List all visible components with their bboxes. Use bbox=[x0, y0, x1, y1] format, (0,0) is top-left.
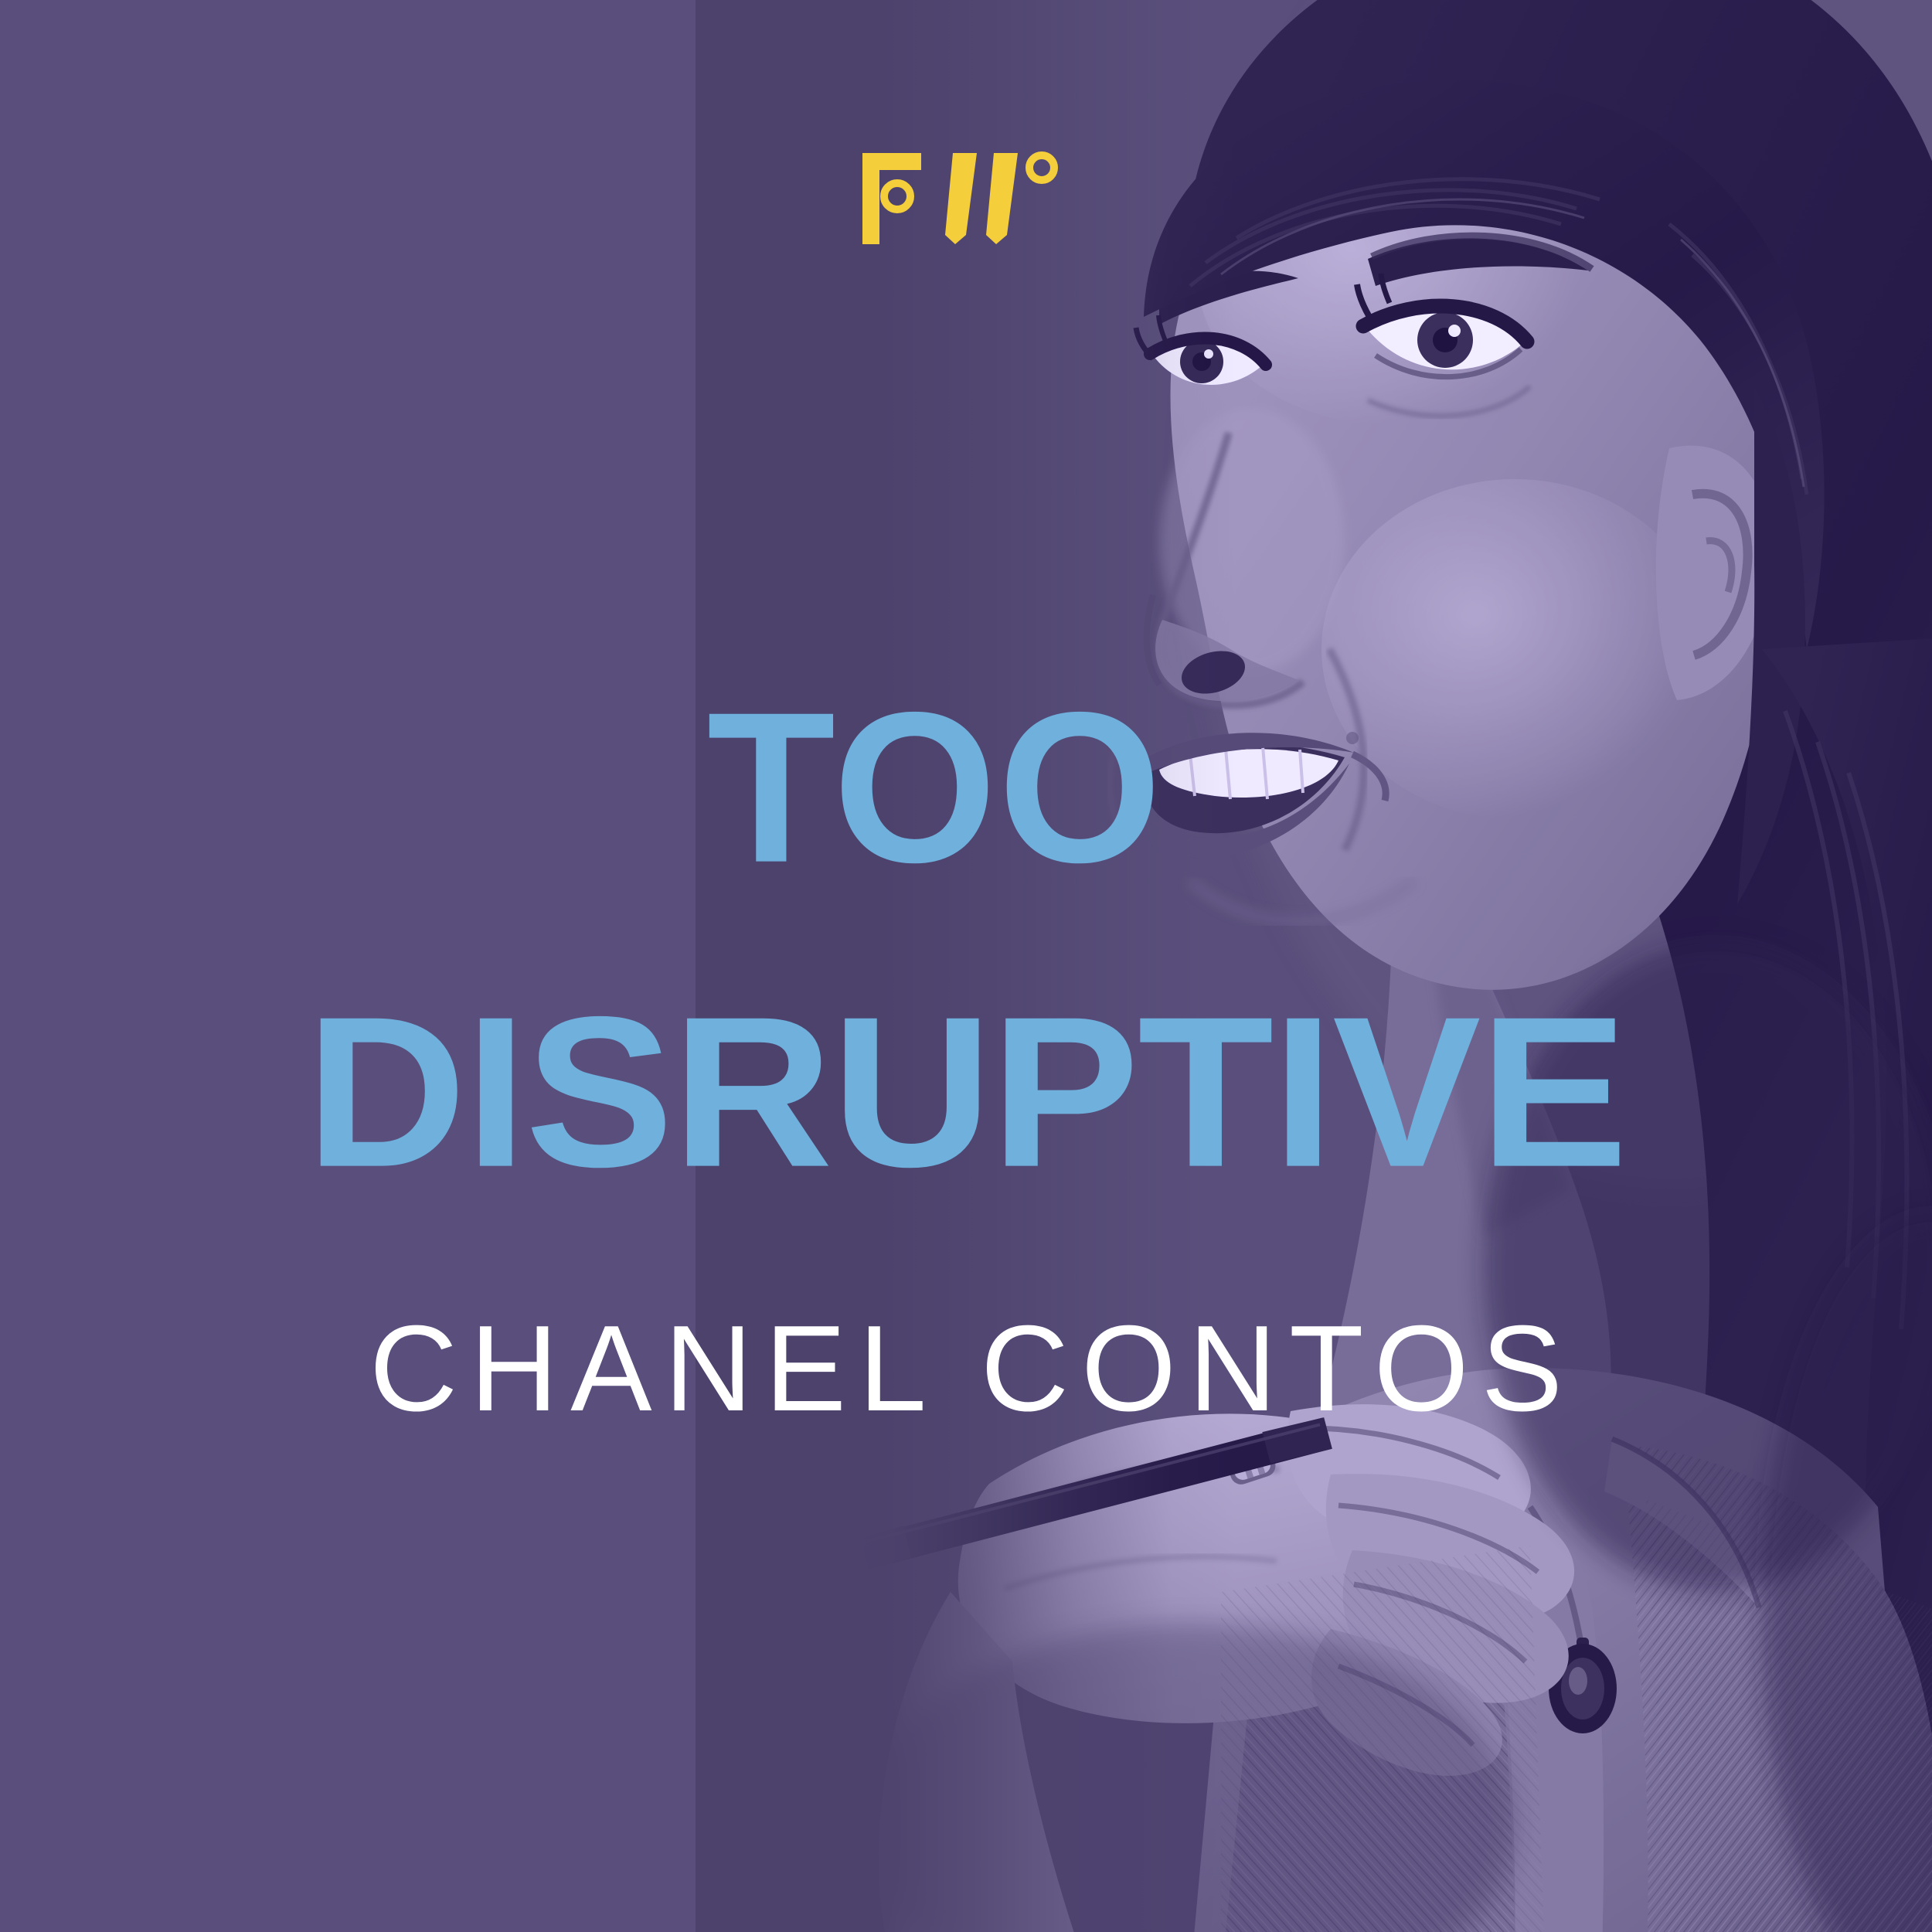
title-line-2: DISRUPTIVE bbox=[0, 985, 1932, 1199]
fw-degree-logo[interactable] bbox=[856, 148, 1088, 249]
guest-name: CHANEL CONTOS bbox=[0, 1308, 1932, 1430]
podcast-cover-art: TOO DISRUPTIVE CHANEL CONTOS bbox=[0, 0, 1932, 1932]
title-line-1: TOO bbox=[0, 680, 1932, 894]
episode-title: TOO DISRUPTIVE bbox=[0, 680, 1932, 1195]
